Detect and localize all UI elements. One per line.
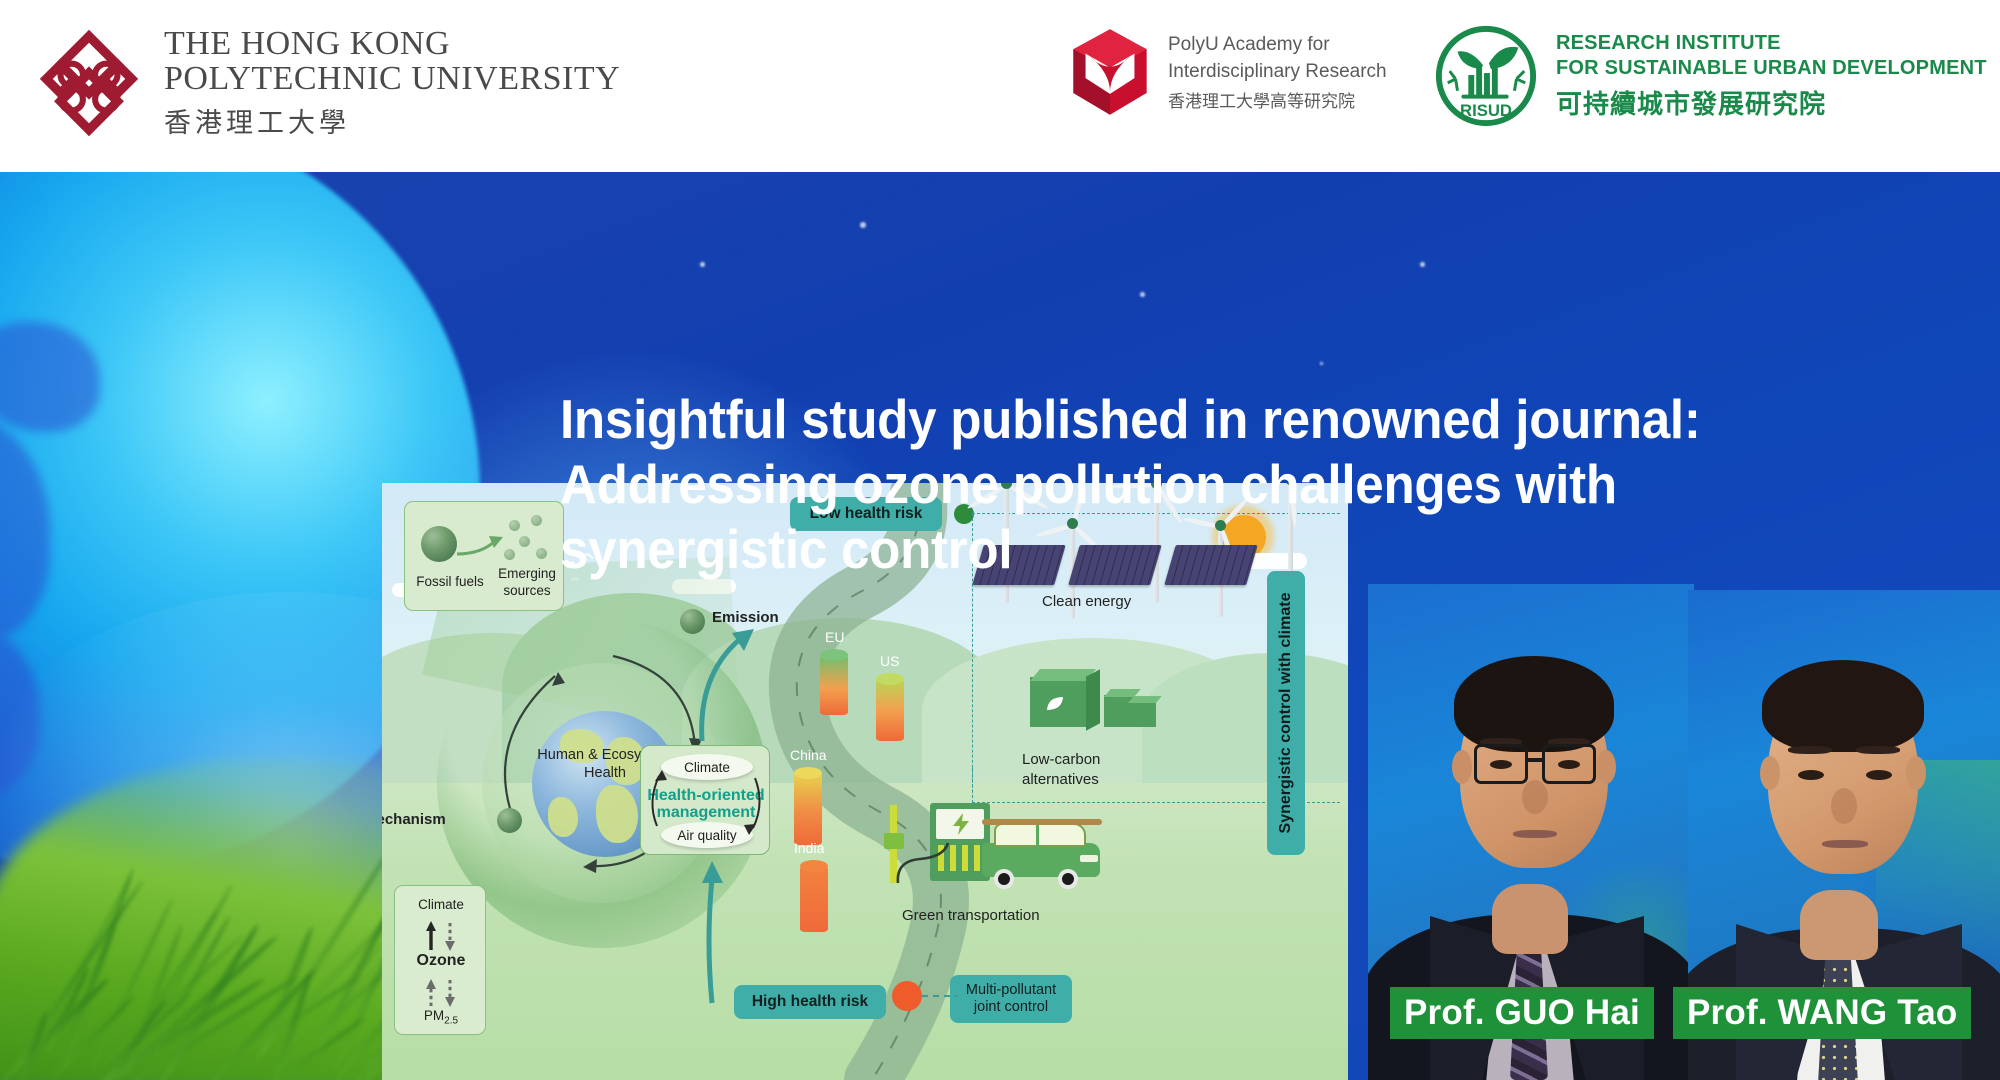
synergistic-control-tab-label: Synergistic control with climate	[1277, 593, 1295, 834]
portrait-1-ear-left	[1452, 750, 1472, 784]
pair-cube-icon	[1066, 24, 1154, 120]
fossil-fuels-label: Fossil fuels	[415, 574, 485, 590]
portrait-2-neck	[1800, 890, 1878, 960]
risud-name-line1: RESEARCH INSTITUTE	[1556, 31, 1987, 56]
conversion-arrow-icon	[455, 528, 507, 562]
emerging-dot-1	[509, 520, 520, 531]
portrait-2-eye-right	[1866, 770, 1892, 780]
portrait-1-glasses-bridge	[1526, 758, 1544, 762]
emerging-dot-2	[531, 515, 542, 526]
region-china-label: China	[790, 747, 827, 764]
emerging-dot-4	[504, 549, 515, 560]
high-health-risk-badge: High health risk	[734, 985, 886, 1019]
multi-pollutant-label-line1: Multi-pollutant	[966, 982, 1056, 999]
mechanism-label: Mechanism	[382, 811, 446, 829]
stack-pm-label: PM2.5	[395, 1008, 487, 1027]
emerging-sources-label-line1: Emerging	[495, 566, 559, 582]
sparkle	[1140, 292, 1145, 297]
sparkle	[700, 262, 705, 267]
region-india-bar	[800, 866, 828, 932]
emerging-sources-label-line2: sources	[495, 583, 559, 599]
portrait-2-ear-right	[1906, 756, 1926, 790]
pollutant-stack-card: Climate Ozone PM2.5	[394, 885, 486, 1035]
region-us-bar-top	[876, 673, 904, 685]
pair-name-line2: Interdisciplinary Research	[1168, 59, 1387, 84]
region-eu-bar-top	[820, 649, 848, 661]
region-eu-bar	[820, 655, 848, 715]
headline-line-2: Addressing ozone pollution challenges wi…	[560, 452, 1602, 517]
portrait-2-nose	[1831, 788, 1857, 824]
region-india-label: India	[794, 840, 824, 857]
portrait-2-brow-right	[1856, 746, 1900, 754]
portrait-1-ear-right	[1596, 750, 1616, 784]
multi-pollutant-label-line2: joint control	[974, 999, 1048, 1016]
portrait-1-glasses-left	[1474, 744, 1528, 784]
stack-pm-main: PM	[424, 1008, 444, 1023]
portrait-1-hair	[1454, 656, 1614, 752]
risud-logo: RISUD RESEARCH INSTITUTE FOR SUSTAINABLE…	[1432, 22, 1987, 130]
emerging-dot-5	[536, 548, 547, 559]
nameplate-guo-hai: Prof. GUO Hai	[1390, 987, 1654, 1039]
stack-arrows-upper-icon	[417, 920, 465, 952]
low-carbon-label-line1: Low-carbon	[1022, 751, 1100, 769]
clean-energy-label: Clean energy	[1042, 593, 1131, 611]
region-eu-label: EU	[825, 629, 844, 646]
header-bar: THE HONG KONG POLYTECHNIC UNIVERSITY 香港理…	[0, 0, 2000, 172]
portrait-2-hair	[1762, 660, 1924, 752]
risud-name-zh: 可持續城市發展研究院	[1556, 84, 1987, 121]
polyu-name-zh: 香港理工大學	[164, 101, 620, 140]
pair-logo: PolyU Academy for Interdisciplinary Rese…	[1066, 24, 1387, 120]
headline-line-1: Insightful study published in renowned j…	[560, 387, 1602, 452]
high-risk-node	[892, 981, 922, 1011]
portrait-1-neck	[1492, 884, 1568, 954]
region-india-bar-top	[800, 860, 828, 872]
region-china-bar	[794, 773, 822, 845]
low-carbon-label-line2: alternatives	[1022, 771, 1099, 789]
stack-pm-sub: 2.5	[444, 1016, 458, 1027]
sparkle	[1420, 262, 1425, 267]
risud-name-line2: FOR SUSTAINABLE URBAN DEVELOPMENT	[1556, 56, 1987, 81]
nameplate-wang-tao: Prof. WANG Tao	[1673, 987, 1971, 1039]
portrait-2-eye-left	[1798, 770, 1824, 780]
region-china-bar-top	[794, 767, 822, 779]
multi-pollutant-badge: Multi-pollutant joint control	[950, 975, 1072, 1023]
region-us-bar	[876, 679, 904, 741]
region-us-label: US	[880, 653, 899, 670]
multi-pollutant-connector	[922, 993, 958, 999]
portrait-2-mouth	[1822, 840, 1868, 848]
headline-line-3: synergistic control	[560, 517, 1602, 582]
mechanism-node	[497, 808, 522, 833]
portrait-1-glasses-right	[1542, 744, 1596, 784]
green-transport-icon	[882, 803, 1102, 903]
portrait-2-brow-left	[1788, 746, 1832, 754]
page-title: Insightful study published in renowned j…	[560, 387, 1602, 582]
polyu-logo: THE HONG KONG POLYTECHNIC UNIVERSITY 香港理…	[28, 22, 620, 144]
stack-ozone-label: Ozone	[395, 952, 487, 971]
portrait-2-ear-left	[1760, 756, 1780, 790]
stack-arrows-lower-icon	[417, 978, 465, 1008]
pair-name-line1: PolyU Academy for	[1168, 32, 1387, 57]
risud-circle-icon: RISUD	[1432, 22, 1540, 130]
emission-source-card: Fossil fuels Emerging sources	[404, 501, 564, 611]
polyu-name-line1: THE HONG KONG	[164, 26, 620, 61]
poster-root: THE HONG KONG POLYTECHNIC UNIVERSITY 香港理…	[0, 0, 2000, 1080]
polyu-knot-icon	[28, 22, 150, 144]
emerging-dot-3	[519, 536, 530, 547]
green-transport-label: Green transportation	[902, 907, 1040, 925]
sparkle	[1320, 362, 1323, 365]
polyu-name-line2: POLYTECHNIC UNIVERSITY	[164, 61, 620, 96]
risud-mark-text: RISUD	[1460, 101, 1512, 120]
portrait-1-mouth	[1513, 830, 1557, 838]
synergistic-control-tab: Synergistic control with climate	[1267, 571, 1305, 855]
low-carbon-boxes-icon	[1030, 661, 1160, 741]
sparkle	[860, 222, 866, 228]
portrait-1-nose	[1522, 780, 1548, 814]
fossil-fuel-sphere	[421, 526, 457, 562]
stack-climate-label: Climate	[395, 897, 487, 913]
pair-name-zh: 香港理工大學高等研究院	[1168, 87, 1387, 112]
